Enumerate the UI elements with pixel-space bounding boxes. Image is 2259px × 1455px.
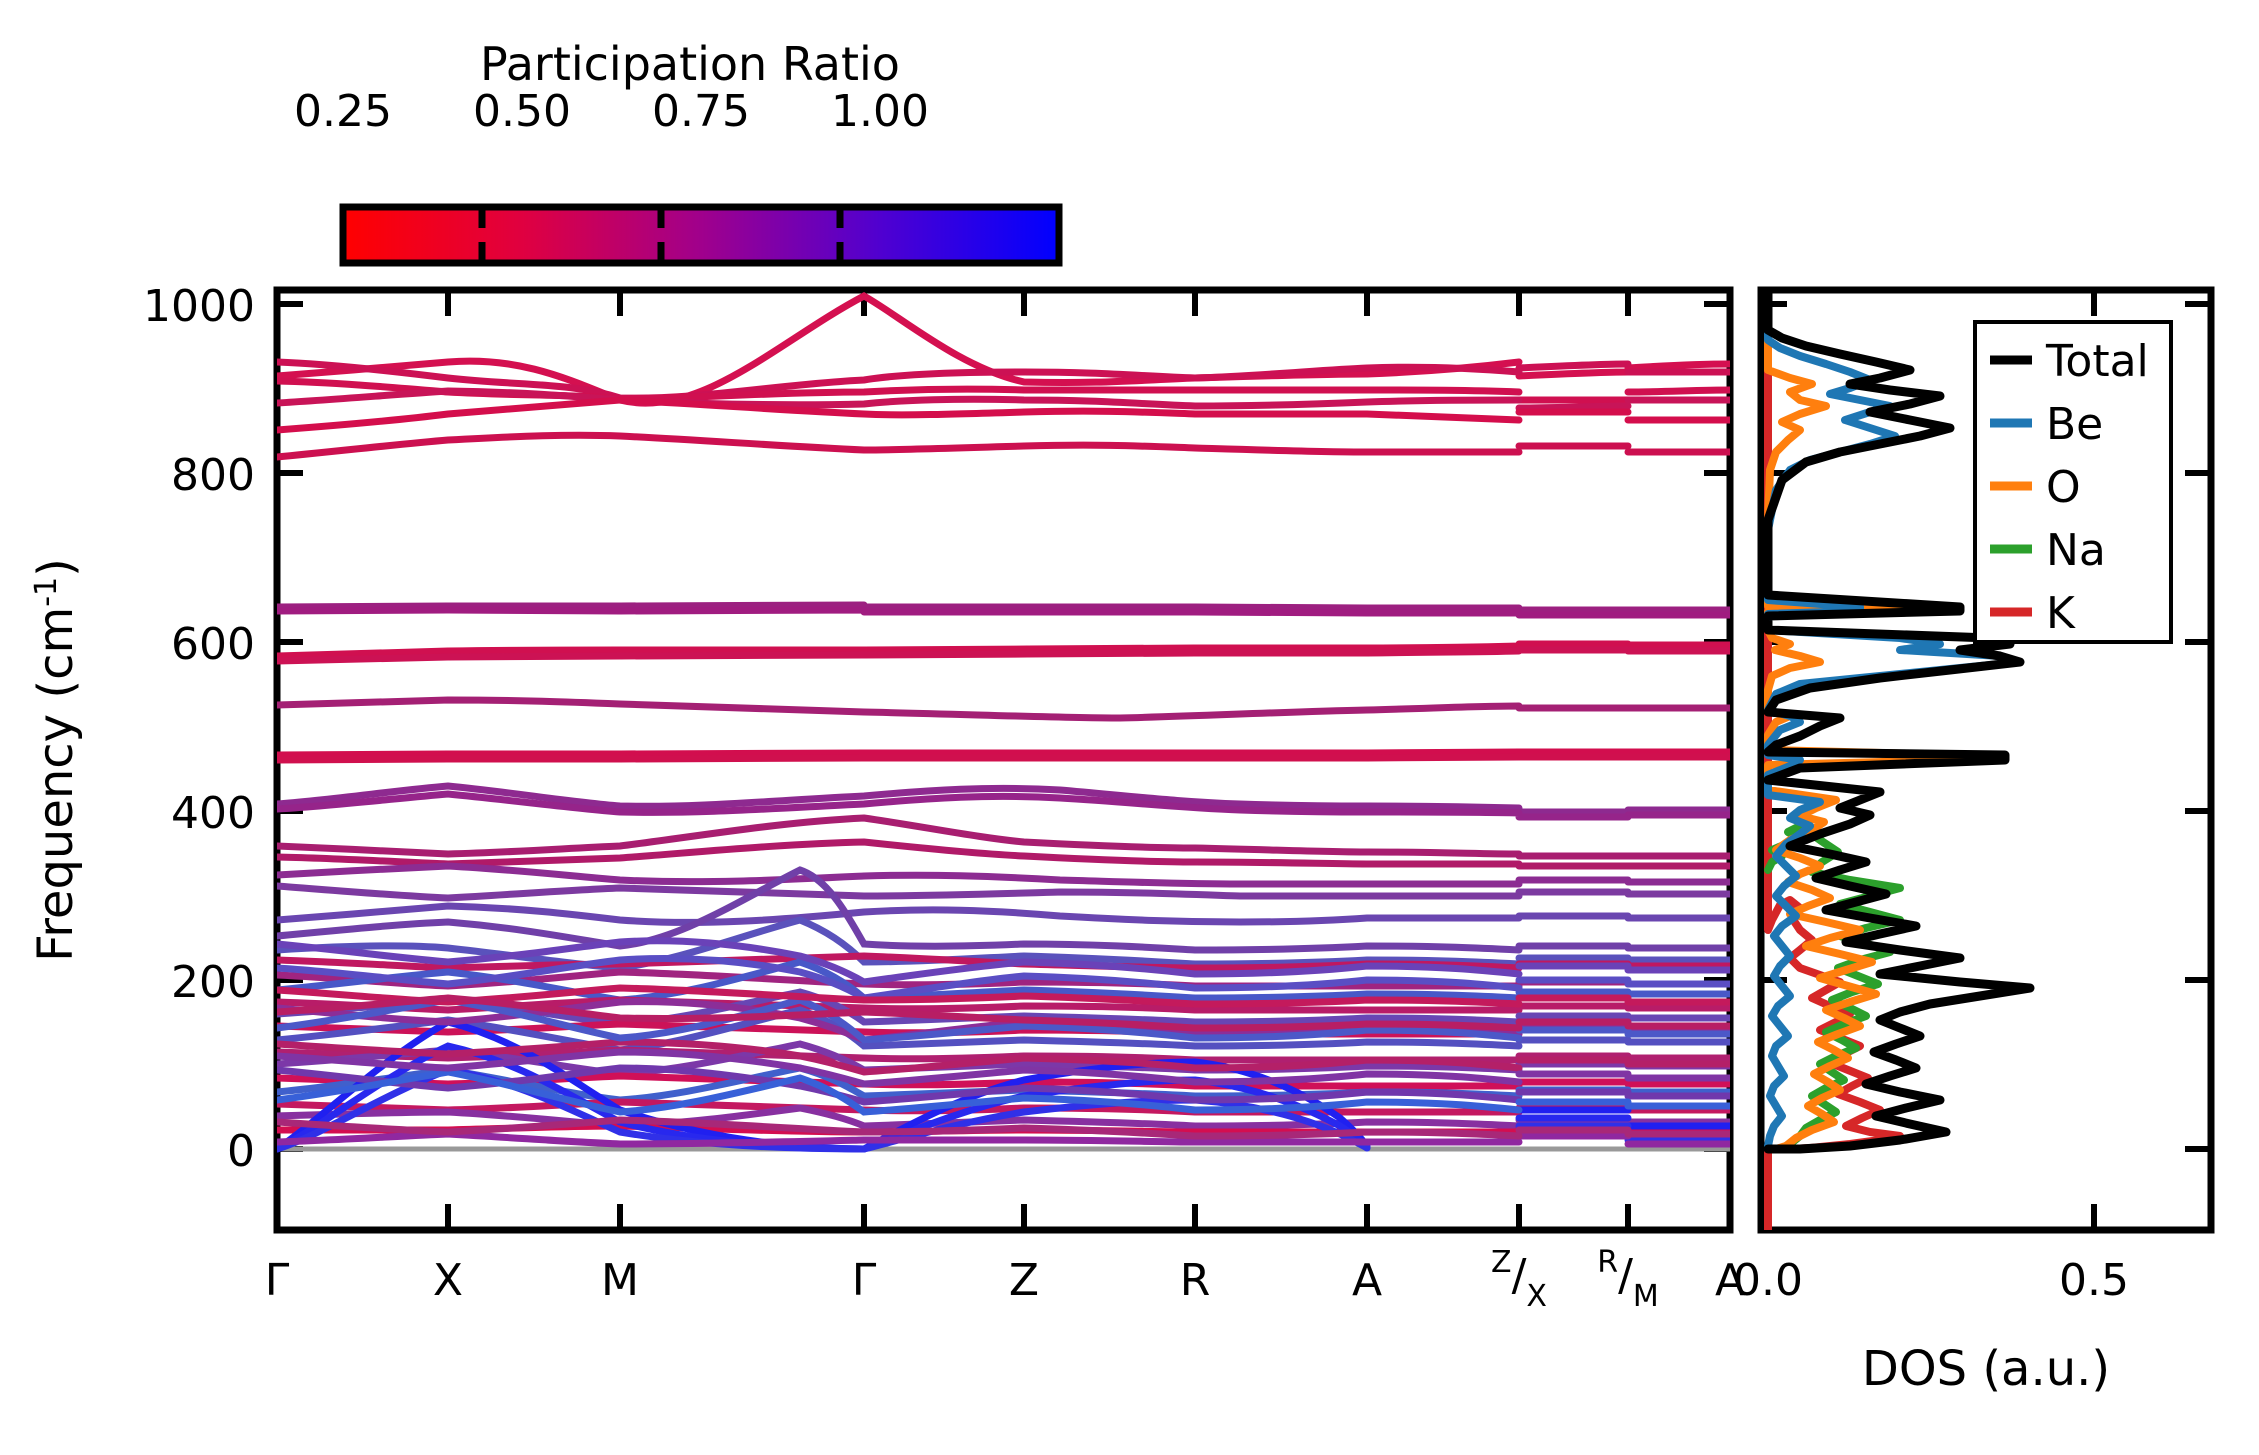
colorbar-tick-2: 0.75 (652, 86, 750, 137)
figure-canvas: Participation Ratio 0.25 0.50 0.75 1.00 … (0, 0, 2259, 1455)
ytick-600: 600 (171, 619, 255, 670)
xtick-A-1: A (1352, 1255, 1382, 1306)
ytick-1000: 1000 (143, 281, 255, 332)
svg-text:Frequency (cm-1): Frequency (cm-1) (28, 558, 84, 962)
ylabel-main: Frequency (cm (28, 607, 84, 962)
legend-label-o: O (2046, 462, 2081, 513)
xtick-X: X (433, 1255, 463, 1306)
colorbar-tick-1: 0.50 (473, 86, 571, 137)
xtick-M: M (601, 1255, 639, 1306)
xtick-R: R (1180, 1255, 1211, 1306)
xtick-gamma-2: Γ (852, 1255, 877, 1306)
dos-xtick-1: 0.5 (2059, 1255, 2129, 1306)
colorbar-title: Participation Ratio (480, 37, 900, 91)
legend-label-be: Be (2046, 399, 2103, 450)
dos-xtick-0: 0.0 (1733, 1255, 1803, 1306)
dos-legend: Total Be O Na K (1975, 322, 2171, 642)
ylabel-superscript: -1 (29, 577, 64, 607)
xtick-Z: Z (1009, 1255, 1039, 1306)
band-group-490 (277, 752, 1730, 760)
band-group-690 (277, 605, 1730, 615)
band-structure-panel: 0 200 400 600 800 1000 Γ X M Γ Z R A (143, 281, 1745, 1314)
legend-label-total: Total (2045, 336, 2149, 387)
ytick-800: 800 (171, 450, 255, 501)
colorbar-tick-0: 0.25 (294, 86, 392, 137)
ytick-200: 200 (171, 957, 255, 1008)
ytick-0: 0 (227, 1126, 255, 1177)
dos-axis-label: DOS (a.u.) (1862, 1341, 2110, 1397)
ytick-400: 400 (171, 788, 255, 839)
phonon-figure: Participation Ratio 0.25 0.50 0.75 1.00 … (0, 0, 2259, 1455)
dos-panel: 0.0 0.5 DOS (a.u.) Total Be (1733, 290, 2211, 1397)
legend-label-na: Na (2046, 525, 2106, 576)
colorbar-tick-3: 1.00 (831, 86, 929, 137)
ylabel-close: ) (28, 558, 84, 577)
y-axis-label: Frequency (cm-1) (28, 558, 84, 962)
legend-label-k: K (2046, 588, 2076, 639)
colorbar-gradient[interactable] (343, 207, 1059, 263)
xtick-gamma-1: Γ (265, 1255, 290, 1306)
